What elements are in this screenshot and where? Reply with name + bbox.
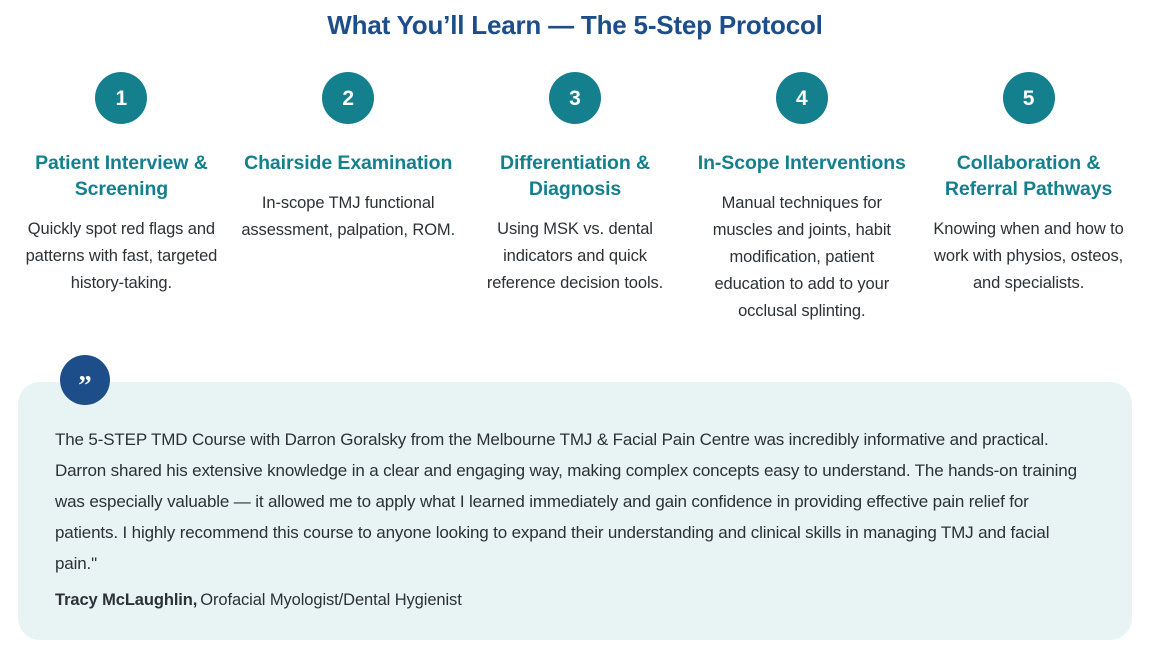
step-description-1: Quickly spot red flags and patterns with… (8, 216, 235, 297)
quote-glyph: ” (78, 372, 92, 399)
step-description-4: Manual techniques for muscles and joints… (688, 190, 915, 325)
step-number-badge-2: 2 (322, 72, 374, 124)
steps-row: 1 Patient Interview & Screening Quickly … (8, 72, 1142, 325)
step-title-4: In-Scope Interventions (694, 150, 910, 176)
step-number-badge-1: 1 (95, 72, 147, 124)
step-title-5: Collaboration & Referral Pathways (915, 150, 1142, 202)
page-title: What You’ll Learn — The 5-Step Protocol (0, 8, 1150, 42)
step-title-1: Patient Interview & Screening (8, 150, 235, 202)
testimonial-author-name: Tracy McLaughlin, (55, 591, 197, 609)
testimonial-author-role: Orofacial Myologist/Dental Hygienist (200, 591, 461, 609)
step-number-badge-5: 5 (1003, 72, 1055, 124)
step-item-5: 5 Collaboration & Referral Pathways Know… (915, 72, 1142, 297)
testimonial-attribution: Tracy McLaughlin,Orofacial Myologist/Den… (55, 588, 462, 612)
step-number-badge-4: 4 (776, 72, 828, 124)
step-description-3: Using MSK vs. dental indicators and quic… (462, 216, 689, 297)
testimonial-quote-text: The 5-STEP TMD Course with Darron Gorals… (55, 424, 1090, 579)
step-description-5: Knowing when and how to work with physio… (915, 216, 1142, 297)
step-item-4: 4 In-Scope Interventions Manual techniqu… (688, 72, 915, 325)
step-title-2: Chairside Examination (240, 150, 456, 176)
step-item-3: 3 Differentiation & Diagnosis Using MSK … (462, 72, 689, 297)
step-item-1: 1 Patient Interview & Screening Quickly … (8, 72, 235, 297)
step-item-2: 2 Chairside Examination In-scope TMJ fun… (235, 72, 462, 244)
quote-mark-icon: ” (60, 355, 110, 405)
step-title-3: Differentiation & Diagnosis (462, 150, 689, 202)
step-description-2: In-scope TMJ functional assessment, palp… (235, 190, 462, 244)
step-number-badge-3: 3 (549, 72, 601, 124)
